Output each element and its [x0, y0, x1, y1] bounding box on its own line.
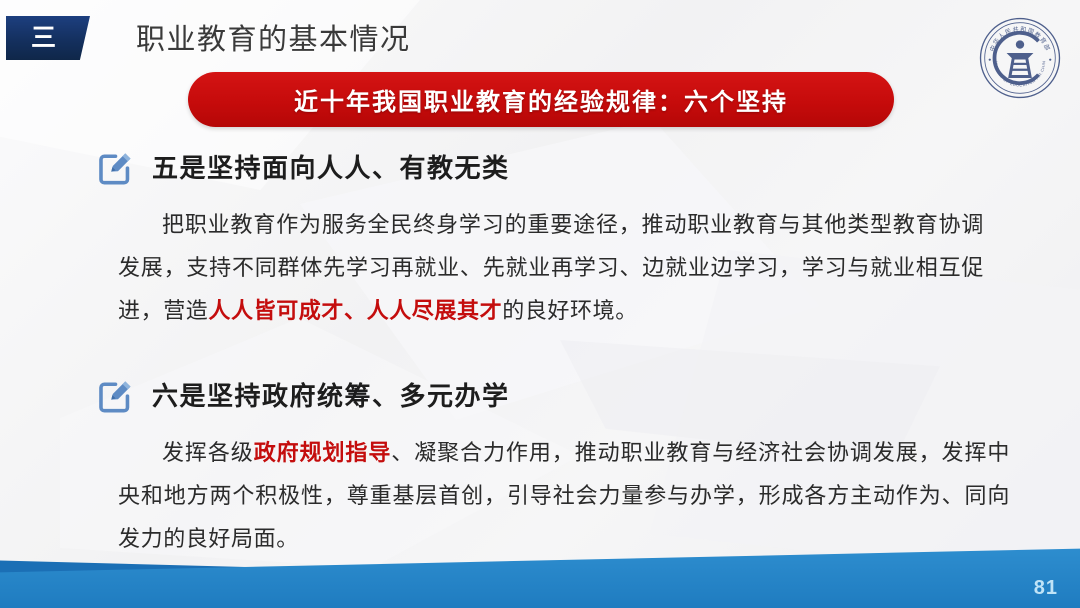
- ministry-of-education-emblem-icon: 中华人民共和国教育部 MINISTRY OF EDUCATION P.R.CHI…: [978, 16, 1062, 100]
- content-block-title: 五是坚持面向人人、有教无类: [152, 148, 510, 185]
- section-banner-text: 近十年我国职业教育的经验规律：六个坚持: [294, 82, 788, 117]
- section-banner: 近十年我国职业教育的经验规律：六个坚持: [188, 72, 894, 127]
- body-highlight-segment: 政府规划指导: [254, 440, 392, 465]
- presentation-slide: 三 职业教育的基本情况 中华人民共和国教育部 MINISTRY OF EDUCA…: [0, 0, 1080, 608]
- body-text-segment: 发挥各级: [162, 440, 254, 465]
- content-block-body: 把职业教育作为服务全民终身学习的重要途径，推动职业教育与其他类型教育协调发展，支…: [0, 203, 1080, 332]
- content-block-heading: 五是坚持面向人人、有教无类: [0, 146, 1080, 187]
- page-number: 81: [1034, 577, 1058, 600]
- slide-header: 三 职业教育的基本情况 中华人民共和国教育部 MINISTRY OF EDUCA…: [0, 0, 1080, 76]
- section-number-tag: 三: [6, 16, 90, 60]
- content-block-five: 五是坚持面向人人、有教无类 把职业教育作为服务全民终身学习的重要途径，推动职业教…: [0, 146, 1080, 332]
- edit-pencil-icon: [95, 374, 136, 415]
- section-number-glyph: 三: [31, 26, 57, 51]
- content-block-body: 发挥各级政府规划指导、凝聚合力作用，推动职业教育与经济社会协调发展，发挥中央和地…: [0, 431, 1080, 560]
- content-block-heading: 六是坚持政府统筹、多元办学: [0, 374, 1080, 415]
- page-title: 职业教育的基本情况: [136, 16, 411, 58]
- edit-pencil-icon: [95, 146, 136, 187]
- slide-content: 五是坚持面向人人、有教无类 把职业教育作为服务全民终身学习的重要途径，推动职业教…: [0, 140, 1080, 560]
- body-highlight-segment: 人人皆可成才、人人尽展其才: [208, 298, 502, 323]
- content-block-six: 六是坚持政府统筹、多元办学 发挥各级政府规划指导、凝聚合力作用，推动职业教育与经…: [0, 374, 1080, 560]
- body-text-segment: 的良好环境。: [502, 298, 638, 323]
- content-block-title: 六是坚持政府统筹、多元办学: [152, 376, 510, 413]
